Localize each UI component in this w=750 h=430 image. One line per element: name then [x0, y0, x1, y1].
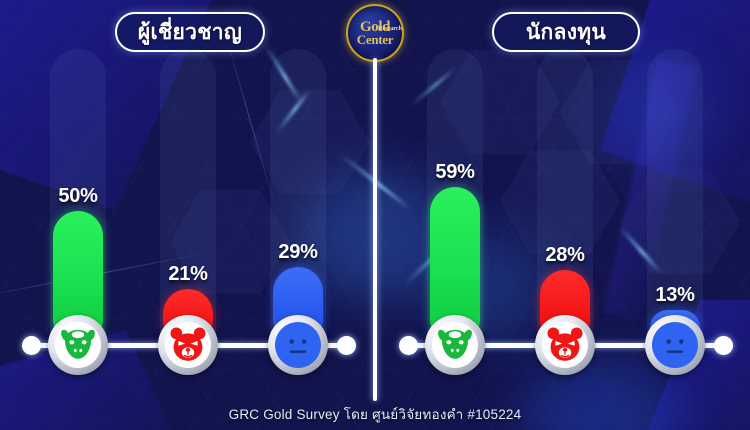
neutral-face-icon — [652, 322, 698, 368]
bar-value-label: 13% — [631, 284, 719, 307]
bar-value-label: 21% — [144, 263, 232, 286]
bar-value-label: 29% — [254, 241, 342, 264]
bar-column-bearish[interactable]: 21%Bearish — [160, 77, 216, 345]
bull-head-icon — [55, 322, 101, 368]
axis-end-dot — [714, 336, 733, 355]
axis-end-dot — [337, 336, 356, 355]
axis-end-dot — [22, 336, 41, 355]
axis-end-dot — [399, 336, 418, 355]
bar-column-neutral[interactable]: 13%Neutral — [647, 77, 703, 345]
bull-head-icon-badge[interactable] — [48, 315, 108, 375]
bar-column-bearish[interactable]: 28%Bearish — [537, 77, 593, 345]
bull-head-icon — [432, 322, 478, 368]
panel-expert: 50%Bullish21%Bearish29%Neutral — [0, 0, 373, 430]
bull-head-icon-badge[interactable] — [425, 315, 485, 375]
bear-head-icon — [165, 322, 211, 368]
bar-column-neutral[interactable]: 29%Neutral — [270, 77, 326, 345]
infographic-canvas: ผู้เชี่ยวชาญ Gold Center Research นักลงท… — [0, 0, 750, 430]
bar-value-label: 50% — [34, 185, 122, 208]
neutral-face-icon-badge[interactable] — [645, 315, 705, 375]
bar-value-label: 59% — [411, 161, 499, 184]
neutral-face-icon — [275, 322, 321, 368]
bear-head-icon — [542, 322, 588, 368]
bar-column-bullish[interactable]: 59%Bullish — [427, 77, 483, 345]
neutral-face-icon-badge[interactable] — [268, 315, 328, 375]
bar-column-bullish[interactable]: 50%Bullish — [50, 77, 106, 345]
panel-investor: 59%Bullish28%Bearish13%Neutral — [377, 0, 750, 430]
bar-value-label: 28% — [521, 244, 609, 267]
caption-text: GRC Gold Survey โดย ศูนย์วิจัยทองคำ #105… — [0, 403, 750, 425]
bear-head-icon-badge[interactable] — [158, 315, 218, 375]
bear-head-icon-badge[interactable] — [535, 315, 595, 375]
